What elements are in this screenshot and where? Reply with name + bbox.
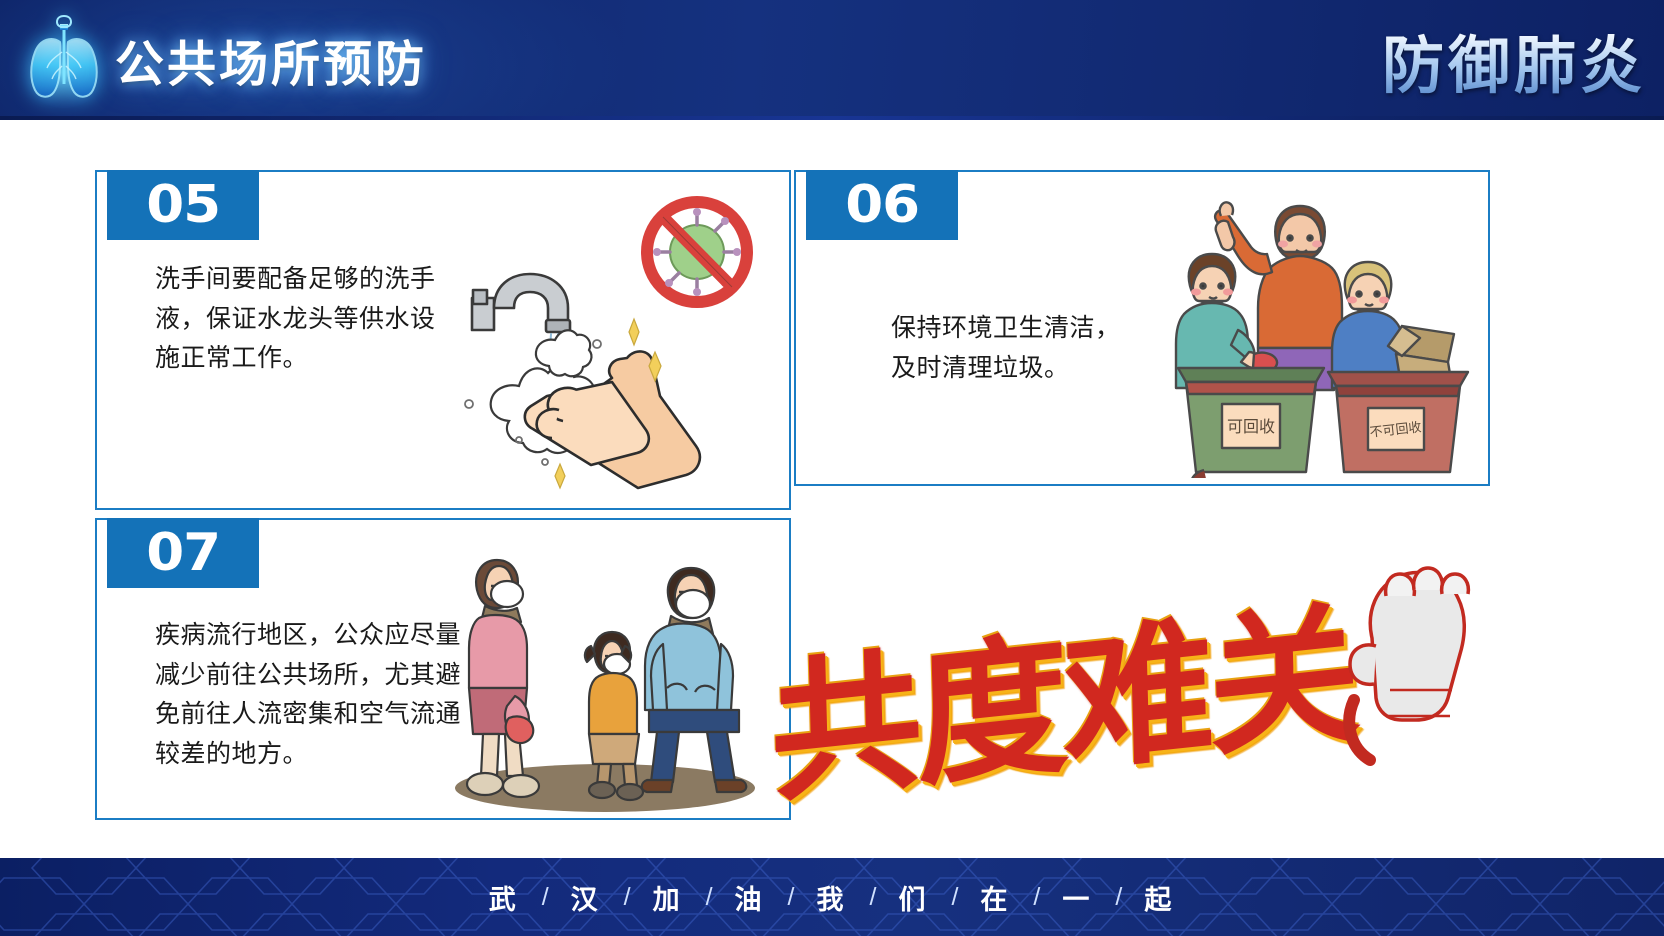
footer-separator: / — [706, 883, 713, 912]
person-man-mask — [642, 568, 747, 792]
footer-word: 在 — [980, 878, 1011, 917]
footer-separator: / — [624, 883, 631, 912]
footer-word: 一 — [1062, 878, 1093, 917]
footer-word: 油 — [735, 878, 766, 917]
footer-word: 汉 — [571, 878, 602, 917]
card-number-badge: 06 — [806, 170, 958, 240]
footer-separator: / — [542, 883, 549, 912]
card-number-label: 05 — [146, 179, 220, 231]
card-number-badge: 05 — [107, 170, 259, 240]
page-title: 公共场所预防 — [115, 0, 427, 120]
info-card-06: 06 保持环境卫生清洁， 及时清理垃圾。 — [794, 170, 1490, 486]
brand-title: 防御肺炎 — [1382, 0, 1646, 120]
page-header: 公共场所预防 防御肺炎 — [0, 0, 1664, 120]
face-mask — [491, 581, 523, 607]
faucet-icon — [472, 274, 570, 332]
raised-fist-icon — [1330, 550, 1510, 780]
card-number-badge: 07 — [107, 518, 259, 588]
bin-label-recyclable: 可回收 — [1227, 418, 1275, 436]
trash-bins-illustration: 可回收 不可回收 — [1116, 182, 1476, 478]
footer-separator: / — [870, 883, 877, 912]
person-boy-blond — [1332, 262, 1404, 388]
no-virus-sign — [643, 198, 751, 306]
masked-family-illustration — [427, 548, 767, 816]
page-footer: 武/汉/加/油/我/们/在/一/起 — [0, 858, 1664, 936]
face-mask — [676, 590, 710, 618]
footer-separator: / — [788, 883, 795, 912]
footer-slogan: 武/汉/加/油/我/们/在/一/起 — [0, 858, 1664, 936]
footer-word: 武 — [489, 878, 520, 917]
card-body-text: 洗手间要配备足够的洗手液，保证水龙头等供水设施正常工作。 — [155, 260, 455, 379]
footer-word: 起 — [1144, 878, 1175, 917]
info-card-07: 07 疾病流行地区，公众应尽量减少前往公共场所，尤其避免前往人流密集和空气流通较… — [95, 518, 791, 820]
handwashing-illustration — [427, 190, 777, 490]
info-card-05: 05 洗手间要配备足够的洗手液，保证水龙头等供水设施正常工作。 — [95, 170, 791, 510]
footer-separator: / — [1033, 883, 1040, 912]
handbag — [506, 716, 534, 743]
footer-word: 我 — [817, 878, 848, 917]
footer-word: 们 — [898, 878, 929, 917]
footer-separator: / — [1115, 883, 1122, 912]
person-woman-mask — [467, 560, 539, 797]
footer-word: 加 — [653, 878, 684, 917]
lungs-icon — [16, 12, 112, 112]
card-number-label: 07 — [146, 527, 220, 579]
calligraphy-block: 共度难关 — [770, 540, 1510, 830]
card-number-label: 06 — [845, 179, 919, 231]
footer-separator: / — [951, 883, 958, 912]
